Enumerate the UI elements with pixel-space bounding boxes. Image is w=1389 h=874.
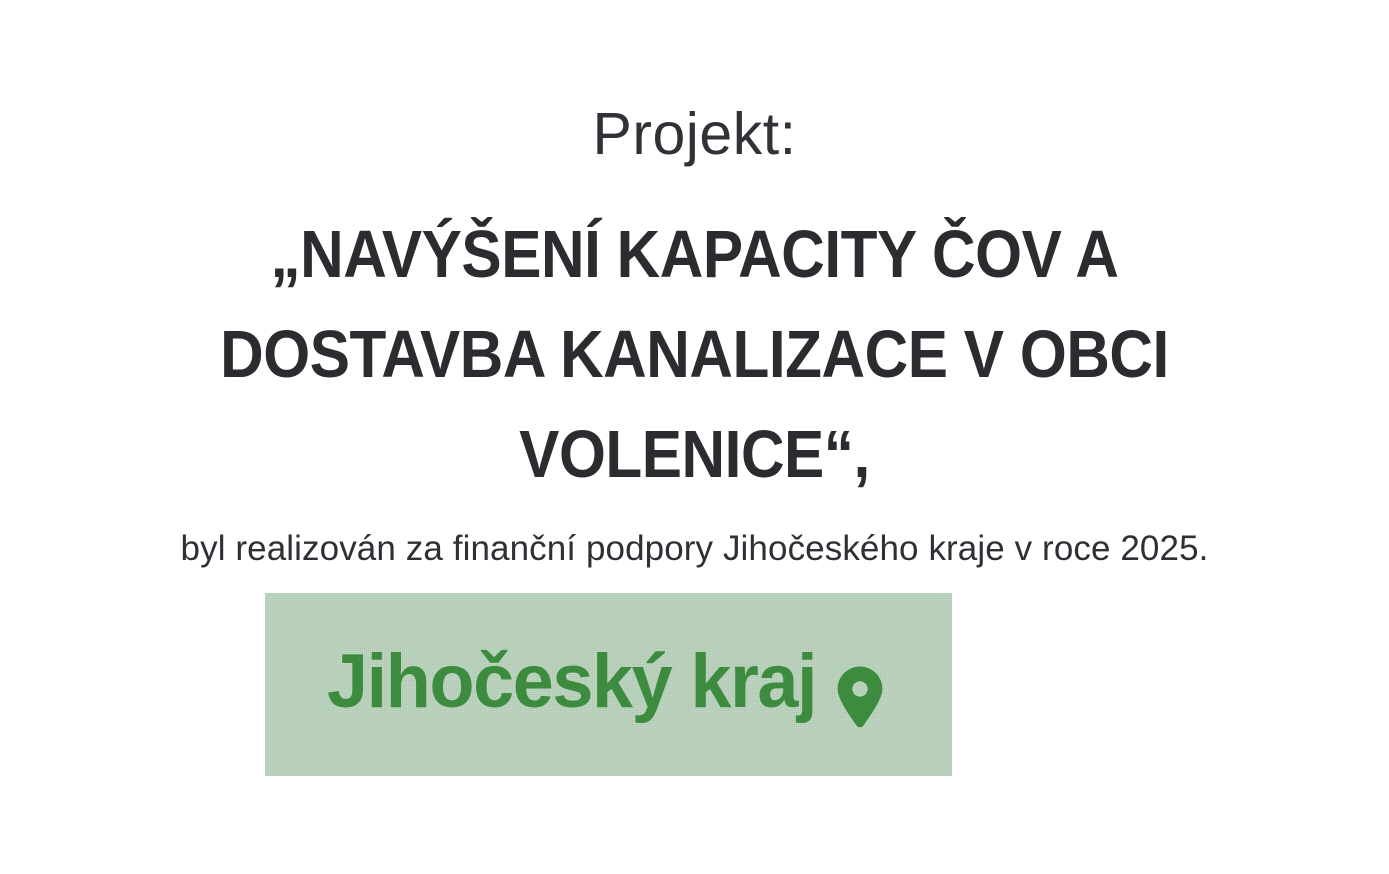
logo-wordmark: Jihočeský kraj <box>327 636 816 728</box>
page-eyebrow: Projekt: <box>0 104 1389 166</box>
poster-canvas: Projekt: „NAVÝŠENÍ KAPACITY ČOV A DOSTAV… <box>0 0 1389 874</box>
map-pin-icon <box>837 666 883 728</box>
page-title-line-1: „NAVÝŠENÍ KAPACITY ČOV A <box>69 205 1319 305</box>
funding-statement: byl realizován za finanční podpory Jihoč… <box>0 526 1389 572</box>
page-title-line-2: DOSTAVBA KANALIZACE V OBCI <box>69 305 1319 405</box>
page-title: „NAVÝŠENÍ KAPACITY ČOV A DOSTAVBA KANALI… <box>0 205 1389 505</box>
jihocesky-kraj-logo: Jihočeský kraj <box>265 593 952 776</box>
logo-content: Jihočeský kraj <box>327 636 883 736</box>
page-title-line-3: VOLENICE“, <box>69 405 1319 505</box>
